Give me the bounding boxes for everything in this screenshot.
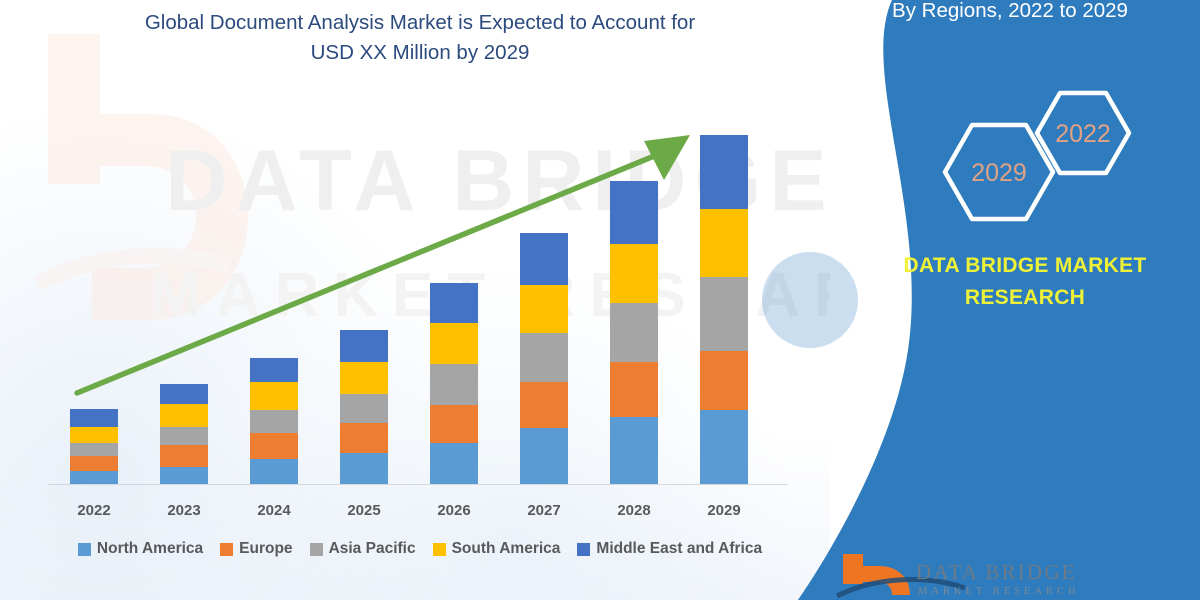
legend-item-south-america[interactable]: South America (433, 540, 561, 558)
legend-item-middle-east-and-africa[interactable]: Middle East and Africa (577, 540, 762, 558)
bar-2028[interactable] (610, 181, 658, 484)
bar-segment-2027-europe[interactable] (520, 382, 568, 428)
legend-swatch-icon (78, 543, 91, 556)
legend-item-europe[interactable]: Europe (220, 540, 292, 558)
bar-segment-2028-asia-pacific[interactable] (610, 303, 658, 362)
bar-segment-2023-north-america[interactable] (160, 467, 208, 484)
bar-segment-2027-south-america[interactable] (520, 285, 568, 334)
bar-segment-2028-middle-east-and-africa[interactable] (610, 181, 658, 244)
bar-2027[interactable] (520, 233, 568, 484)
bar-2025[interactable] (340, 330, 388, 484)
bar-segment-2022-north-america[interactable] (70, 471, 118, 484)
hexagon-2022-label: 2022 (1055, 120, 1111, 148)
bar-segment-2024-south-america[interactable] (250, 382, 298, 409)
hexagon-years-group: 2022 2029 (910, 85, 1160, 245)
legend-item-north-america[interactable]: North America (78, 540, 203, 558)
bar-segment-2028-south-america[interactable] (610, 244, 658, 303)
legend-swatch-icon (310, 543, 323, 556)
legend-swatch-icon (220, 543, 233, 556)
hexagon-2029-label: 2029 (971, 159, 1027, 187)
bar-segment-2024-asia-pacific[interactable] (250, 410, 298, 433)
bar-segment-2023-europe[interactable] (160, 445, 208, 466)
bar-segment-2028-north-america[interactable] (610, 417, 658, 484)
bar-segment-2022-europe[interactable] (70, 456, 118, 471)
x-axis-label-2025: 2025 (319, 502, 409, 519)
logo-wordmark: DATA BRIDGE (916, 560, 1077, 585)
bar-segment-2026-europe[interactable] (430, 405, 478, 444)
bar-segment-2026-north-america[interactable] (430, 443, 478, 484)
bar-segment-2025-europe[interactable] (340, 423, 388, 454)
x-axis-label-2027: 2027 (499, 502, 589, 519)
legend-label: South America (452, 540, 561, 558)
x-axis-label-2023: 2023 (139, 502, 229, 519)
bar-segment-2026-middle-east-and-africa[interactable] (430, 283, 478, 324)
legend-label: Middle East and Africa (596, 540, 762, 558)
brand-name-line-1: DATA BRIDGE MARKET (860, 250, 1190, 282)
panel-title: By Regions, 2022 to 2029 (830, 0, 1190, 26)
legend-swatch-icon (577, 543, 590, 556)
bar-segment-2024-middle-east-and-africa[interactable] (250, 358, 298, 382)
logo-tagline: MARKET RESEARCH (918, 586, 1080, 597)
bar-segment-2022-middle-east-and-africa[interactable] (70, 409, 118, 427)
bar-2024[interactable] (250, 358, 298, 484)
plot-area: 20222023202420252026202720282029 (0, 0, 830, 600)
chart-legend: North AmericaEuropeAsia PacificSouth Ame… (40, 540, 800, 558)
brand-panel: By Regions, 2022 to 2029 2022 2029 DATA … (740, 0, 1200, 600)
x-axis-label-2028: 2028 (589, 502, 679, 519)
bar-segment-2025-south-america[interactable] (340, 362, 388, 395)
bar-segment-2023-south-america[interactable] (160, 404, 208, 427)
bar-2026[interactable] (430, 283, 478, 484)
legend-label: North America (97, 540, 203, 558)
brand-name-line-2: RESEARCH (860, 282, 1190, 314)
bar-segment-2026-asia-pacific[interactable] (430, 364, 478, 405)
bar-segment-2025-north-america[interactable] (340, 453, 388, 484)
bar-segment-2023-middle-east-and-africa[interactable] (160, 384, 208, 403)
bar-segment-2022-asia-pacific[interactable] (70, 443, 118, 455)
bar-segment-2027-middle-east-and-africa[interactable] (520, 233, 568, 285)
chart-panel: DATA BRIDGE MARKET RESEARCH Global Docum… (0, 0, 830, 600)
bar-segment-2028-europe[interactable] (610, 362, 658, 417)
x-axis-line (48, 484, 788, 485)
brand-name: DATA BRIDGE MARKET RESEARCH (860, 250, 1190, 313)
bar-segment-2023-asia-pacific[interactable] (160, 427, 208, 445)
bar-segment-2027-asia-pacific[interactable] (520, 333, 568, 382)
bar-segment-2026-south-america[interactable] (430, 323, 478, 364)
bar-segment-2022-south-america[interactable] (70, 427, 118, 443)
bar-segment-2024-north-america[interactable] (250, 459, 298, 484)
bar-2023[interactable] (160, 384, 208, 484)
bar-segment-2025-asia-pacific[interactable] (340, 394, 388, 422)
x-axis-label-2026: 2026 (409, 502, 499, 519)
bar-2022[interactable] (70, 409, 118, 484)
legend-label: Asia Pacific (329, 540, 416, 558)
legend-item-asia-pacific[interactable]: Asia Pacific (310, 540, 416, 558)
x-axis-label-2022: 2022 (49, 502, 139, 519)
x-axis-label-2024: 2024 (229, 502, 319, 519)
brand-panel-content: By Regions, 2022 to 2029 2022 2029 DATA … (740, 0, 1200, 600)
bar-segment-2027-north-america[interactable] (520, 428, 568, 484)
bar-segment-2025-middle-east-and-africa[interactable] (340, 330, 388, 362)
bar-segment-2024-europe[interactable] (250, 433, 298, 458)
infographic-canvas: DATA BRIDGE MARKET RESEARCH Global Docum… (0, 0, 1200, 600)
legend-label: Europe (239, 540, 292, 558)
legend-swatch-icon (433, 543, 446, 556)
